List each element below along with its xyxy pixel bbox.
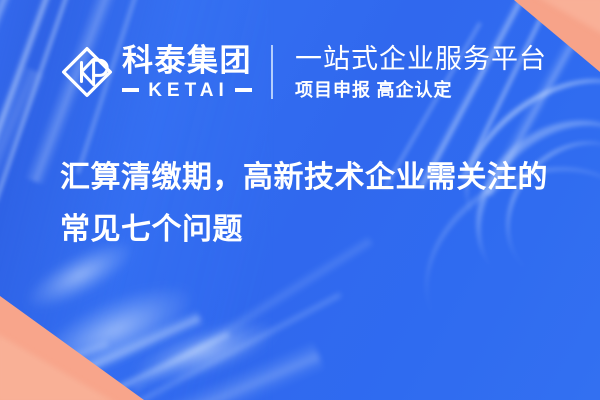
dash-left-icon bbox=[122, 88, 139, 92]
slogan-group: 一站式企业服务平台 项目申报 高企认定 bbox=[295, 45, 547, 98]
header-divider bbox=[271, 45, 273, 99]
corner-accent-top-right-glow bbox=[536, 0, 600, 36]
brand-name-en: KETAI bbox=[139, 81, 235, 100]
ketai-diamond-monogram-icon bbox=[60, 45, 114, 99]
brand-name-en-row: KETAI bbox=[122, 81, 252, 100]
page-title: 汇算清缴期，高新技术企业需关注的常见七个问题 bbox=[60, 152, 552, 256]
banner-header: 科泰集团 KETAI 一站式企业服务平台 项目申报 高企认定 bbox=[60, 38, 547, 106]
brand-wordmark: 科泰集团 KETAI bbox=[122, 45, 252, 100]
slogan-primary: 一站式企业服务平台 bbox=[295, 45, 547, 73]
brand-name-cn: 科泰集团 bbox=[122, 45, 252, 76]
corner-accent-bottom-left-glow bbox=[0, 333, 116, 400]
promo-banner: 科泰集团 KETAI 一站式企业服务平台 项目申报 高企认定 汇算清缴期，高新技… bbox=[0, 0, 600, 400]
dash-right-icon bbox=[235, 88, 252, 92]
slogan-secondary: 项目申报 高企认定 bbox=[295, 81, 547, 99]
